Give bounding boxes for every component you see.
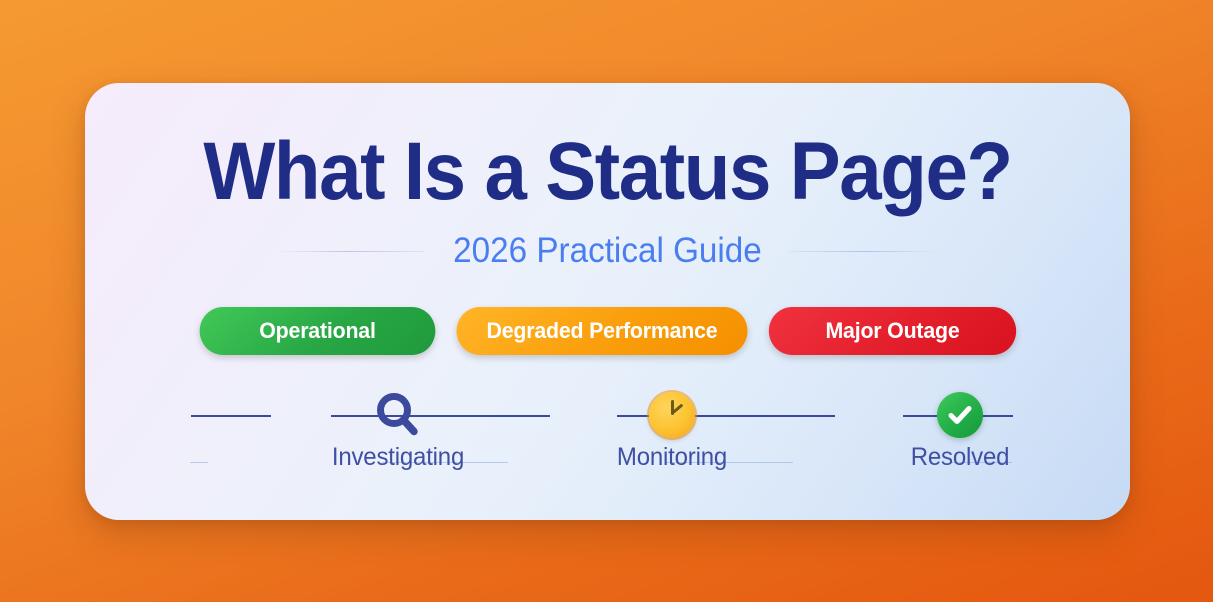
status-pill-group: Operational Degraded Performance Major O…: [85, 307, 1130, 355]
status-badge-degraded-performance[interactable]: Degraded Performance: [456, 307, 747, 355]
check-circle-icon: [937, 392, 983, 438]
timeline-step-label-resolved: Resolved: [864, 443, 1056, 472]
timeline-connector-start: [191, 415, 271, 417]
magnifier-icon: [373, 390, 423, 440]
subtitle-row: 2026 Practical Guide: [85, 231, 1130, 271]
status-badge-operational[interactable]: Operational: [199, 307, 435, 355]
timeline-step-monitoring[interactable]: Monitoring: [572, 393, 772, 472]
timeline-step-investigating[interactable]: Investigating: [298, 393, 498, 472]
subtitle-rule-right: [790, 251, 940, 252]
timeline-step-resolved[interactable]: Resolved: [860, 393, 1060, 472]
label-connector-start: [190, 462, 208, 463]
clock-icon-wrap: [572, 390, 772, 440]
status-badge-major-outage[interactable]: Major Outage: [768, 307, 1015, 355]
timeline-step-label-investigating: Investigating: [302, 443, 494, 472]
timeline-step-label-monitoring: Monitoring: [576, 443, 768, 472]
page-title: What Is a Status Page?: [122, 131, 1094, 213]
incident-timeline: Investigating Monitoring Resolved: [85, 393, 1130, 503]
clock-icon: [649, 392, 695, 438]
magnifier-icon-wrap: [298, 390, 498, 440]
check-circle-icon-wrap: [860, 390, 1060, 440]
infographic-card: What Is a Status Page? 2026 Practical Gu…: [85, 83, 1130, 520]
checkmark-glyph: [946, 401, 974, 429]
page-subtitle: 2026 Practical Guide: [453, 231, 762, 271]
subtitle-rule-left: [275, 251, 425, 252]
